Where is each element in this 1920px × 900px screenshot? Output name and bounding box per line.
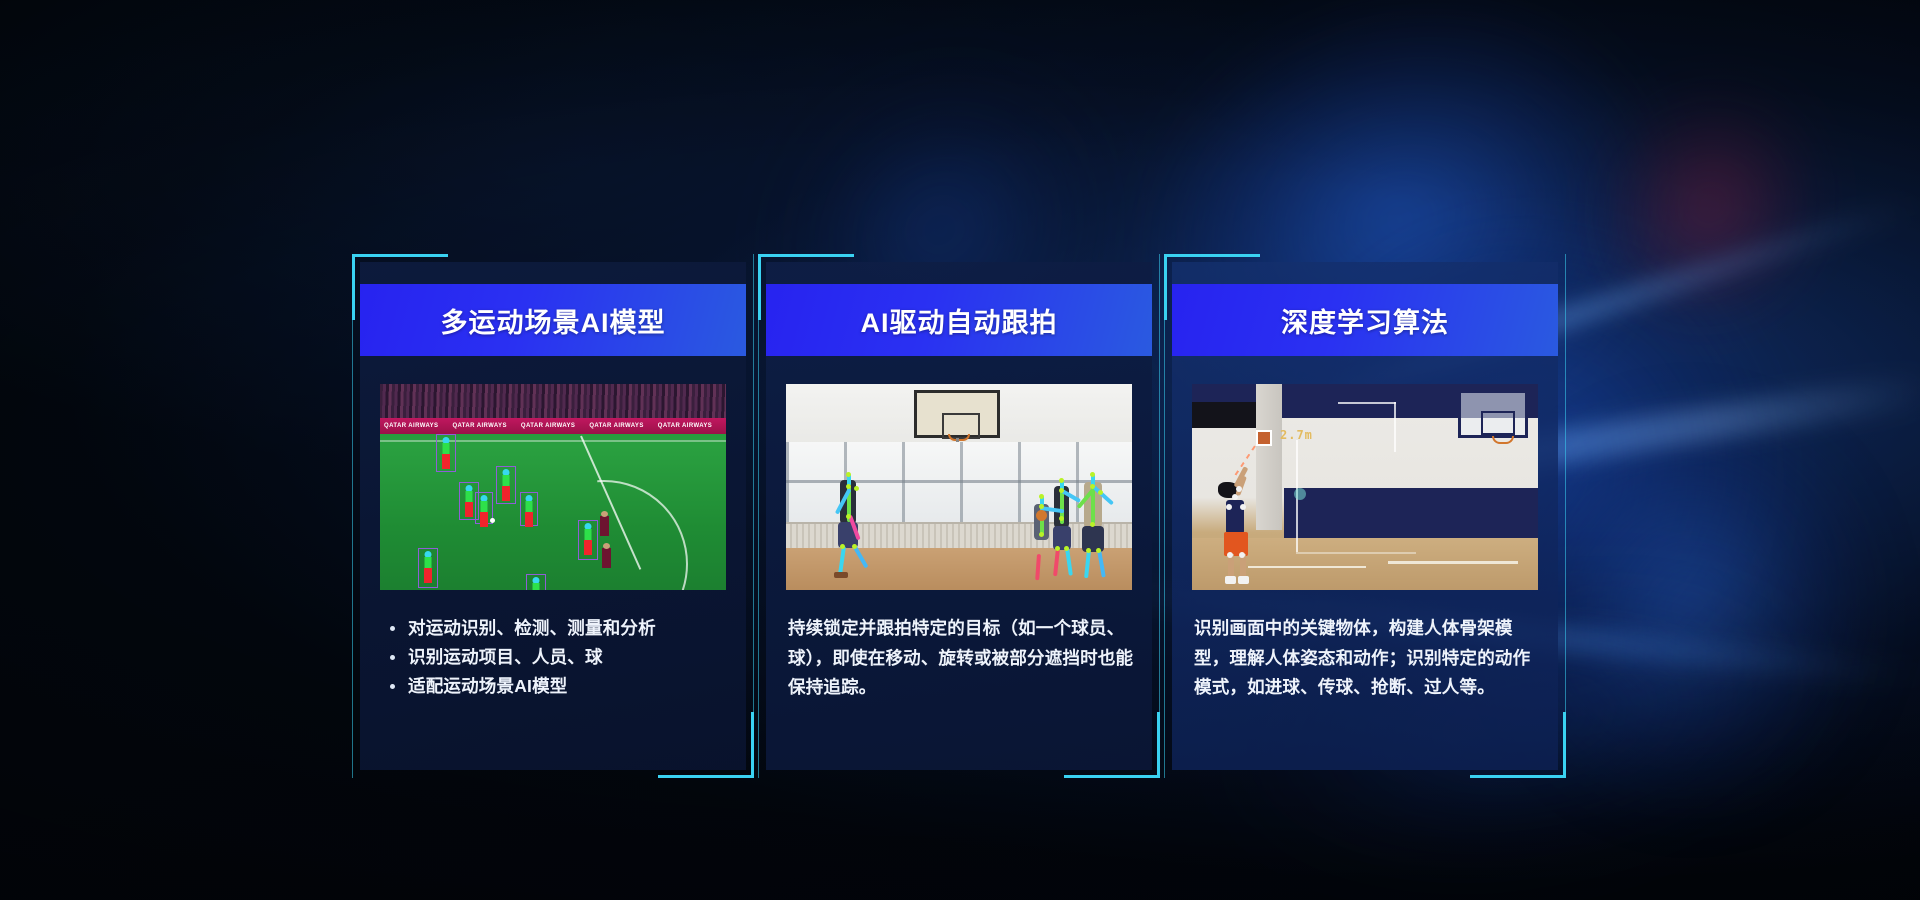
tracking-guide-line (1296, 552, 1416, 554)
slide-stage: 多运动场景AI模型 QATAR AIRWAYS QATAR AIRWAYS QA… (0, 0, 1920, 900)
player-detection-box (436, 434, 456, 472)
feature-card-ai-auto-tracking-shot[interactable]: AI驱动自动跟拍 (766, 262, 1152, 770)
card-description: 识别画面中的关键物体，构建人体骨架模型，理解人体姿态和动作；识别特定的动作模式，… (1194, 614, 1544, 703)
card-title: 多运动场景AI模型 (441, 301, 666, 340)
feature-bullet-list: 对运动识别、检测、测量和分析 识别运动项目、人员、球 适配运动场景AI模型 (382, 614, 732, 701)
distance-label: 2.7m (1280, 428, 1313, 442)
player-detection-box (418, 548, 438, 588)
card-header-banner: 多运动场景AI模型 (360, 284, 746, 356)
feature-card-deep-learning-algorithm[interactable]: 深度学习算法 (1172, 262, 1558, 770)
ball-tracking-box (1256, 430, 1272, 446)
tracking-guide-line (1338, 402, 1396, 404)
soccer-ball (490, 518, 495, 523)
ad-text-2: QATAR AIRWAYS (452, 423, 506, 429)
card-right-edge (1565, 254, 1566, 712)
card-description: 持续锁定并跟拍特定的目标（如一个球员、球），即使在移动、旋转或被部分遮挡时也能保… (788, 614, 1138, 703)
dark-wall-band (1192, 402, 1262, 428)
feature-card-row: 多运动场景AI模型 QATAR AIRWAYS QATAR AIRWAYS QA… (0, 0, 1920, 900)
player-detection-box (520, 492, 538, 526)
card-left-edge (758, 320, 759, 778)
ad-text-4: QATAR AIRWAYS (589, 423, 643, 429)
tracking-guide-line (1394, 402, 1396, 452)
ad-text-5: QATAR AIRWAYS (658, 423, 712, 429)
list-item: 对运动识别、检测、测量和分析 (382, 614, 732, 643)
card-right-edge (753, 254, 754, 712)
card-header-banner: AI驱动自动跟拍 (766, 284, 1152, 356)
basketball-rim (948, 434, 970, 441)
player-detection-box (496, 466, 516, 504)
card-header-banner: 深度学习算法 (1172, 284, 1558, 356)
basketball-backboard (1458, 390, 1528, 438)
ad-text-1: QATAR AIRWAYS (384, 423, 438, 429)
basketball-backboard (914, 390, 1000, 438)
pitch-line-horizontal (380, 440, 726, 442)
opponent-player (600, 516, 609, 536)
opponent-player (602, 548, 611, 568)
card-left-edge (352, 320, 353, 778)
basketball (1036, 510, 1047, 521)
card-right-edge (1159, 254, 1160, 712)
wall-column (1256, 384, 1282, 530)
card-title: AI驱动自动跟拍 (861, 301, 1058, 340)
tracking-marker (1294, 488, 1306, 500)
list-item: 适配运动场景AI模型 (382, 672, 732, 701)
pose-skeleton (830, 472, 878, 582)
feature-card-multi-sport-ai-model[interactable]: 多运动场景AI模型 QATAR AIRWAYS QATAR AIRWAYS QA… (360, 262, 746, 770)
description-paragraph: 识别画面中的关键物体，构建人体骨架模型，理解人体姿态和动作；识别特定的动作模式，… (1194, 614, 1544, 703)
ad-text-3: QATAR AIRWAYS (521, 423, 575, 429)
player-detection-box (578, 520, 598, 560)
basketball-shot-tracking-thumbnail[interactable]: 2.7m (1192, 384, 1538, 590)
court-line (1248, 566, 1366, 568)
pose-skeleton (1074, 468, 1118, 584)
advertising-banner: QATAR AIRWAYS QATAR AIRWAYS QATAR AIRWAY… (380, 418, 726, 434)
court-line (1388, 561, 1518, 564)
card-left-edge (1164, 320, 1165, 778)
pose-skeleton (1024, 492, 1064, 588)
description-paragraph: 持续锁定并跟拍特定的目标（如一个球员、球），即使在移动、旋转或被部分遮挡时也能保… (788, 614, 1138, 703)
card-description: 对运动识别、检测、测量和分析 识别运动项目、人员、球 适配运动场景AI模型 (382, 614, 732, 701)
card-title: 深度学习算法 (1281, 301, 1449, 340)
basketball-pose-thumbnail[interactable] (786, 384, 1132, 590)
soccer-detection-thumbnail[interactable]: QATAR AIRWAYS QATAR AIRWAYS QATAR AIRWAY… (380, 384, 726, 590)
player-detection-box (526, 574, 546, 590)
list-item: 识别运动项目、人员、球 (382, 643, 732, 672)
